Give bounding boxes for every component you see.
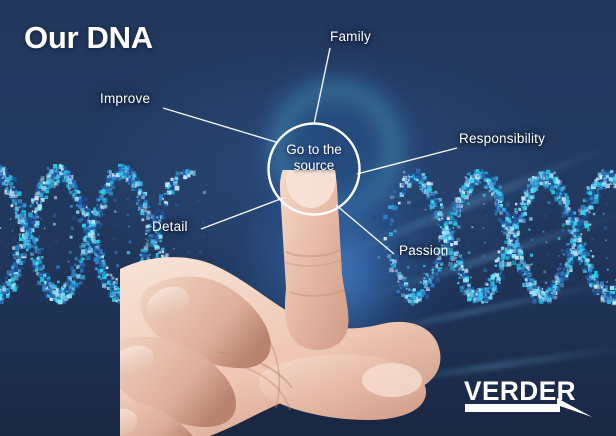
- verder-logo-arrow: [464, 376, 594, 418]
- label-responsibility: Responsibility: [459, 131, 545, 146]
- connector-improve: [163, 108, 276, 142]
- slide-canvas: Go to the source Family Improve Responsi…: [0, 0, 616, 436]
- connector-overlay: [0, 0, 616, 436]
- center-node-line2: source: [268, 158, 360, 174]
- center-node-label: Go to the source: [268, 142, 360, 174]
- connector-family: [314, 48, 330, 124]
- connector-detail: [201, 198, 283, 229]
- page-title: Our DNA: [24, 20, 153, 56]
- verder-logo[interactable]: VERDER: [464, 376, 594, 418]
- label-improve: Improve: [100, 91, 150, 106]
- label-family: Family: [330, 29, 371, 44]
- label-detail: Detail: [152, 219, 188, 234]
- connector-passion: [336, 205, 394, 254]
- connector-responsibility: [357, 148, 457, 174]
- center-node-line1: Go to the: [268, 142, 360, 158]
- label-passion: Passion: [399, 243, 448, 258]
